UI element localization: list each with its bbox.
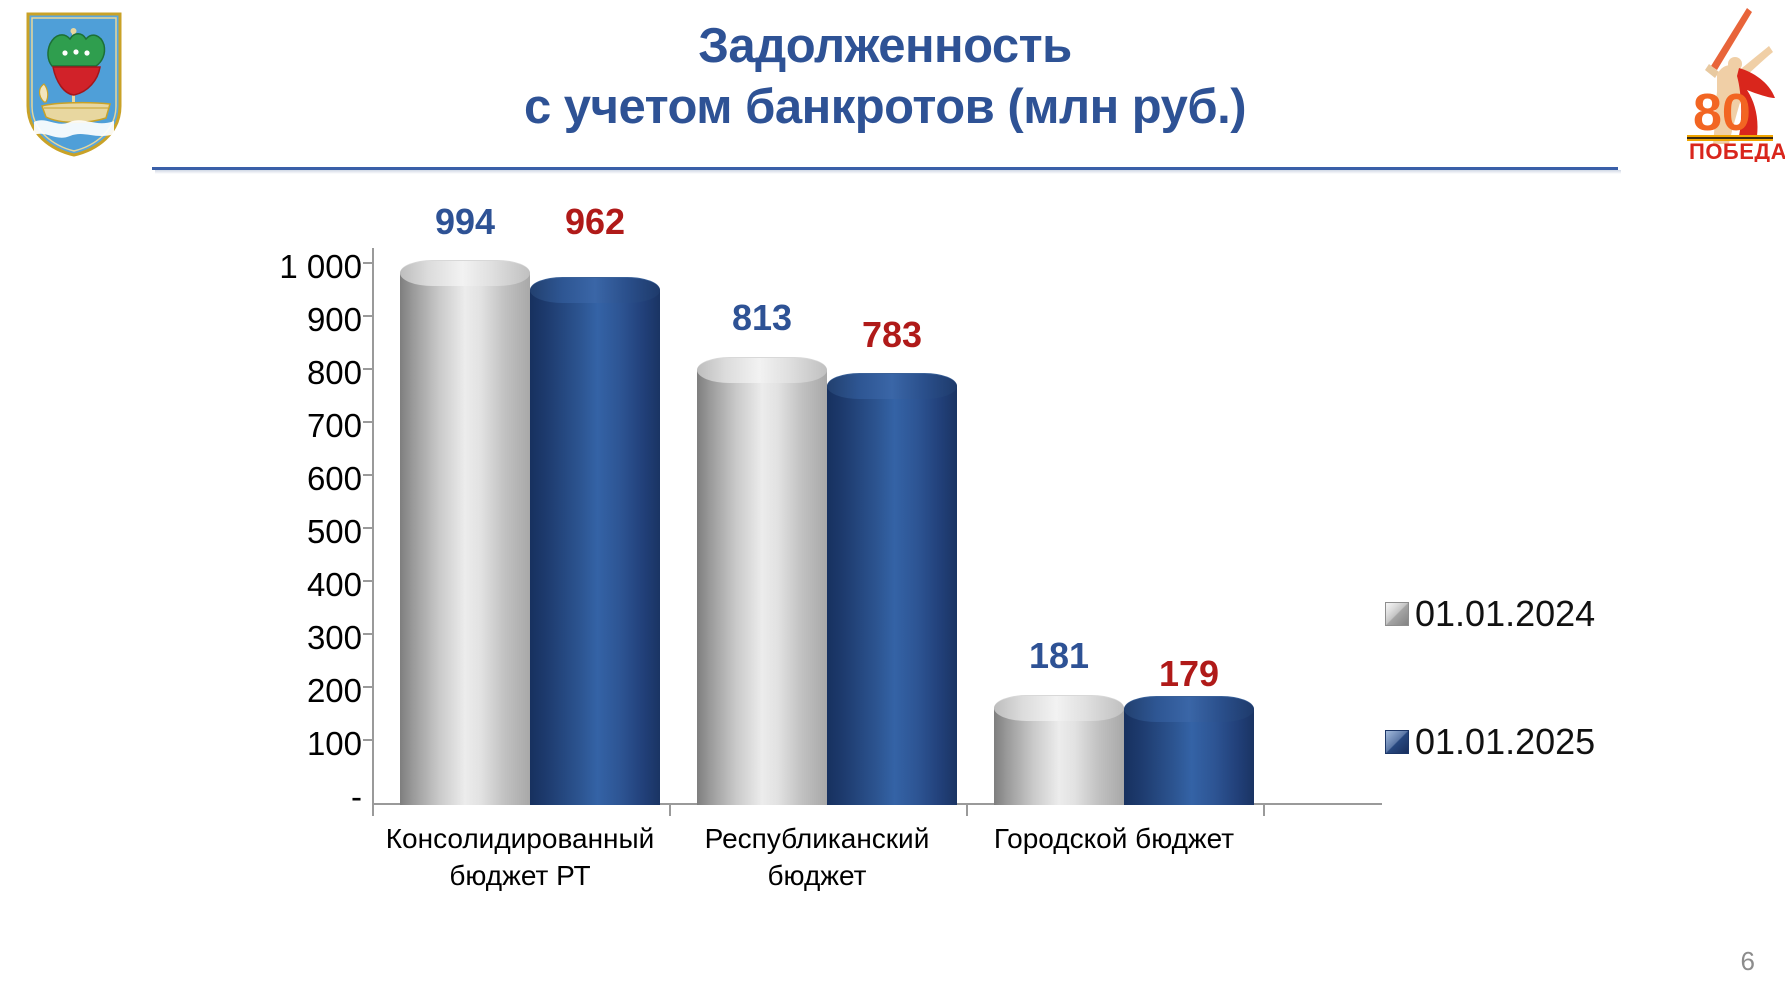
value-label-2025-republican: 783 [802, 317, 982, 353]
y-tick-mark [363, 580, 373, 582]
bar-cap [530, 277, 660, 303]
bar-2025-city[interactable] [1124, 696, 1254, 805]
x-category-line: бюджет РТ [355, 857, 685, 894]
bar-2024-city[interactable] [994, 695, 1124, 805]
x-category-line: Консолидированный [355, 820, 685, 857]
x-category-line: Республиканский [652, 820, 982, 857]
y-tick-mark [363, 368, 373, 370]
y-tick-mark [363, 527, 373, 529]
y-tick-mark [363, 686, 373, 688]
bar-2024-consolidated[interactable] [400, 260, 530, 805]
title-divider [152, 167, 1618, 170]
bar-cap [1124, 696, 1254, 722]
chart-legend: 01.01.2024 01.01.2025 [1385, 590, 1645, 766]
bar-cap [994, 695, 1124, 721]
legend-item-2025[interactable]: 01.01.2025 [1385, 718, 1645, 766]
legend-label: 01.01.2025 [1415, 721, 1595, 763]
y-tick-mark [363, 262, 373, 264]
y-tick-mark [363, 315, 373, 317]
y-tick-label: 800 [162, 356, 362, 389]
x-tick-mark [1263, 803, 1265, 816]
bar-2025-republican[interactable] [827, 373, 957, 805]
title-line-1: Задолженность [150, 16, 1620, 77]
bar-2025-consolidated[interactable] [530, 277, 660, 805]
bar-body [530, 290, 660, 805]
bar-cap [827, 373, 957, 399]
x-category-label-republican: Республиканский бюджет [652, 820, 982, 894]
y-tick-mark [363, 421, 373, 423]
x-tick-mark [669, 803, 671, 816]
svg-text:ПОБЕДА!: ПОБЕДА! [1689, 139, 1785, 162]
y-tick-label: 600 [162, 462, 362, 495]
legend-swatch-icon [1385, 730, 1409, 754]
y-tick-label: 500 [162, 515, 362, 548]
y-tick-label: 700 [162, 409, 362, 442]
victory-80-logo-icon: 80 ПОБЕДА! [1673, 2, 1785, 162]
bar-body [1124, 709, 1254, 805]
y-tick-mark [363, 739, 373, 741]
bar-body [400, 273, 530, 805]
y-tick-mark [363, 474, 373, 476]
y-tick-label: 300 [162, 621, 362, 654]
bar-cap [697, 357, 827, 383]
title-line-2: с учетом банкротов (млн руб.) [150, 77, 1620, 138]
y-tick-label: 900 [162, 303, 362, 336]
bar-cap [400, 260, 530, 286]
bar-2024-republican[interactable] [697, 357, 827, 805]
y-tick-label: 400 [162, 568, 362, 601]
coat-of-arms-icon [22, 10, 126, 158]
slide-canvas: 80 ПОБЕДА! Задолженность с учетом банкро… [0, 0, 1791, 1005]
value-label-2025-city: 179 [1099, 656, 1279, 692]
y-tick-label: 1 000 [162, 250, 362, 283]
page-title: Задолженность с учетом банкротов (млн ру… [150, 16, 1620, 138]
x-category-label-city: Городской бюджет [949, 820, 1279, 857]
legend-item-2024[interactable]: 01.01.2024 [1385, 590, 1645, 638]
svg-text:80: 80 [1693, 84, 1751, 142]
y-tick-label: 100 [162, 727, 362, 760]
page-number: 6 [1741, 946, 1755, 977]
value-label-2025-consolidated: 962 [505, 204, 685, 240]
bar-body [994, 708, 1124, 805]
bar-chart: 1 000 900 800 700 600 500 400 300 200 10… [0, 190, 1791, 910]
bar-body [827, 386, 957, 805]
x-category-label-consolidated: Консолидированный бюджет РТ [355, 820, 685, 894]
legend-swatch-icon [1385, 602, 1409, 626]
y-tick-label: 200 [162, 674, 362, 707]
legend-label: 01.01.2024 [1415, 593, 1595, 635]
x-category-line: бюджет [652, 857, 982, 894]
y-tick-label: - [162, 780, 362, 813]
bar-body [697, 370, 827, 805]
x-tick-mark [372, 803, 374, 816]
x-category-line: Городской бюджет [949, 820, 1279, 857]
x-tick-mark [966, 803, 968, 816]
plot-area: 994 962 813 783 181 179 Консолидированны… [372, 190, 1382, 815]
y-tick-mark [363, 633, 373, 635]
